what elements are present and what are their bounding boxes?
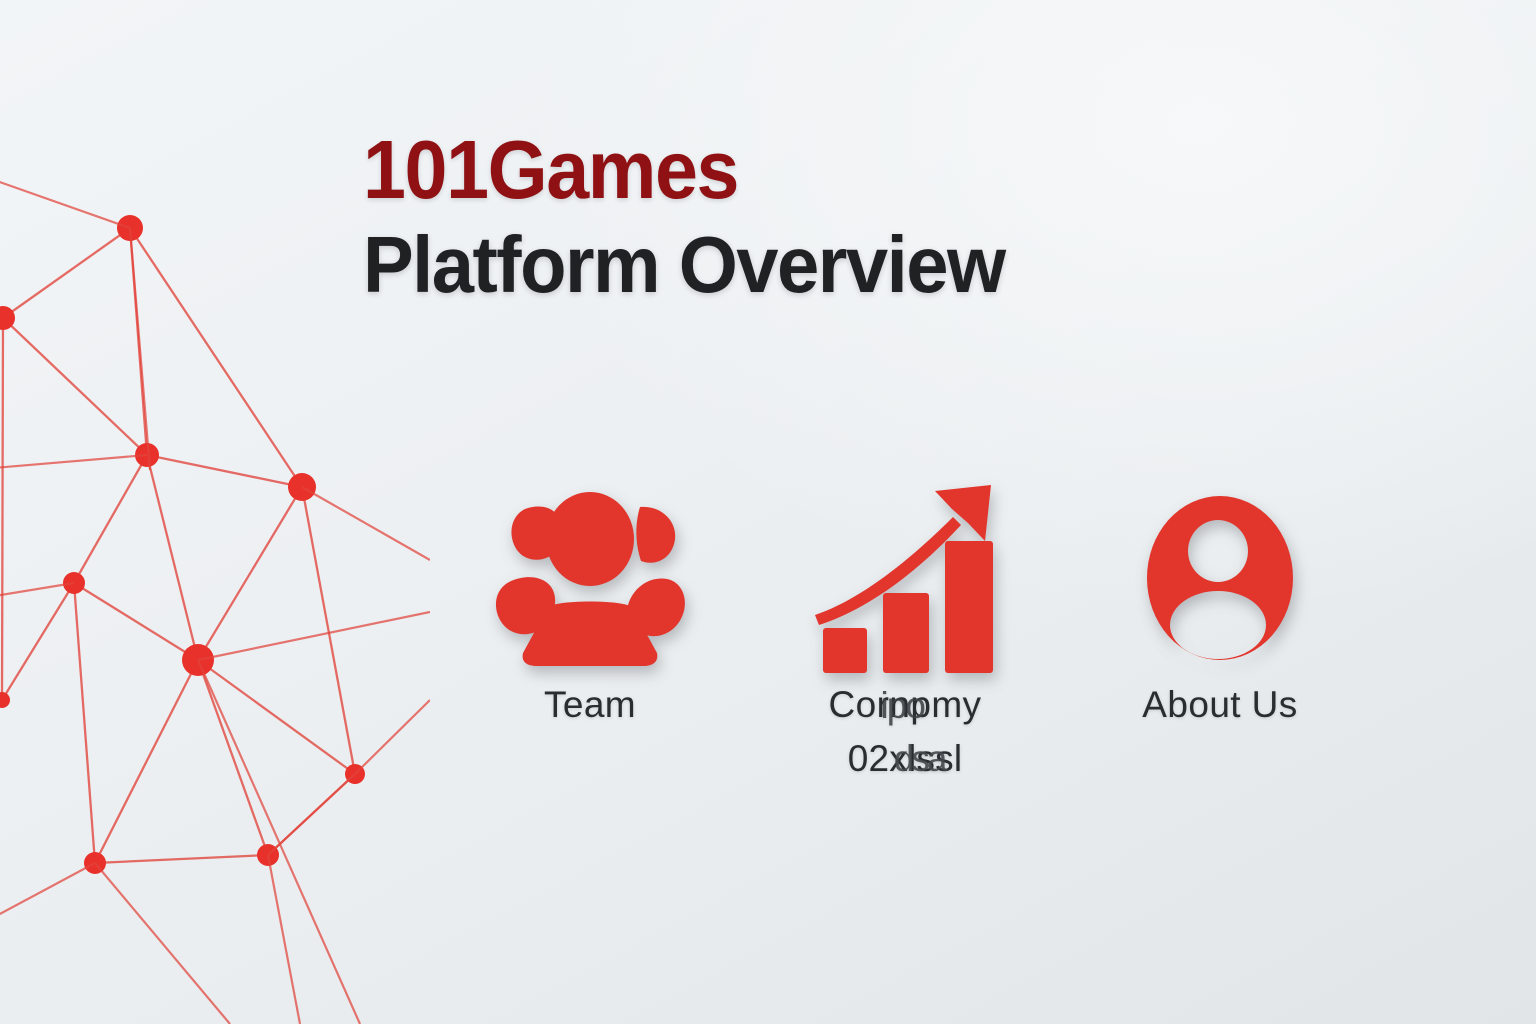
feature-label-team: Team: [460, 684, 720, 726]
feature-sublabel-company: 02xlssl dsa: [848, 738, 963, 780]
network-edge: [198, 660, 268, 855]
network-edge: [268, 774, 355, 855]
people-group-icon: [460, 478, 720, 678]
network-edge: [302, 487, 355, 774]
network-edge: [3, 228, 130, 318]
feature-item-company[interactable]: Cornpmy ipo 02xlssl dsa: [775, 478, 1035, 780]
network-edge: [95, 660, 198, 863]
network-node: [63, 572, 85, 594]
slide-canvas: 101Games Platform Overview: [0, 0, 1536, 1024]
network-edge: [147, 455, 198, 660]
network-edge: [2, 318, 3, 700]
feature-label-about-us: About Us: [1090, 684, 1350, 726]
network-node: [182, 644, 214, 676]
network-edge: [130, 228, 147, 455]
network-node: [257, 844, 279, 866]
growth-bar-chart-icon: [775, 478, 1035, 678]
feature-label-company: Cornpmy ipo: [829, 684, 982, 726]
network-node: [0, 692, 10, 708]
network-edge: [198, 487, 302, 660]
feature-label-company-overlay: ipo: [881, 685, 924, 727]
network-edge: [198, 660, 355, 774]
network-node: [117, 215, 143, 241]
brand-title: 101Games: [363, 128, 1200, 211]
network-node: [288, 473, 316, 501]
feature-sublabel-company-overlay: dsa: [894, 738, 945, 780]
network-node: [135, 443, 159, 467]
network-node: [0, 306, 15, 330]
user-avatar-icon: [1090, 478, 1350, 678]
network-edge: [130, 228, 302, 487]
network-node: [345, 764, 365, 784]
network-edge: [74, 583, 95, 863]
network-edge: [2, 583, 74, 700]
network-edge: [3, 318, 147, 455]
feature-item-about-us[interactable]: About Us: [1090, 478, 1350, 726]
feature-row: Team Cornpmy ipo: [470, 478, 1400, 838]
heading-block: 101Games Platform Overview: [363, 128, 1263, 305]
network-edge: [95, 855, 268, 863]
feature-item-team[interactable]: Team: [460, 478, 720, 726]
network-node: [84, 852, 106, 874]
network-edge: [147, 455, 302, 487]
network-edge: [74, 583, 198, 660]
network-nodes: [0, 215, 365, 874]
network-edge: [74, 455, 147, 583]
network-edges: [2, 228, 355, 863]
page-title: Platform Overview: [363, 225, 1218, 305]
